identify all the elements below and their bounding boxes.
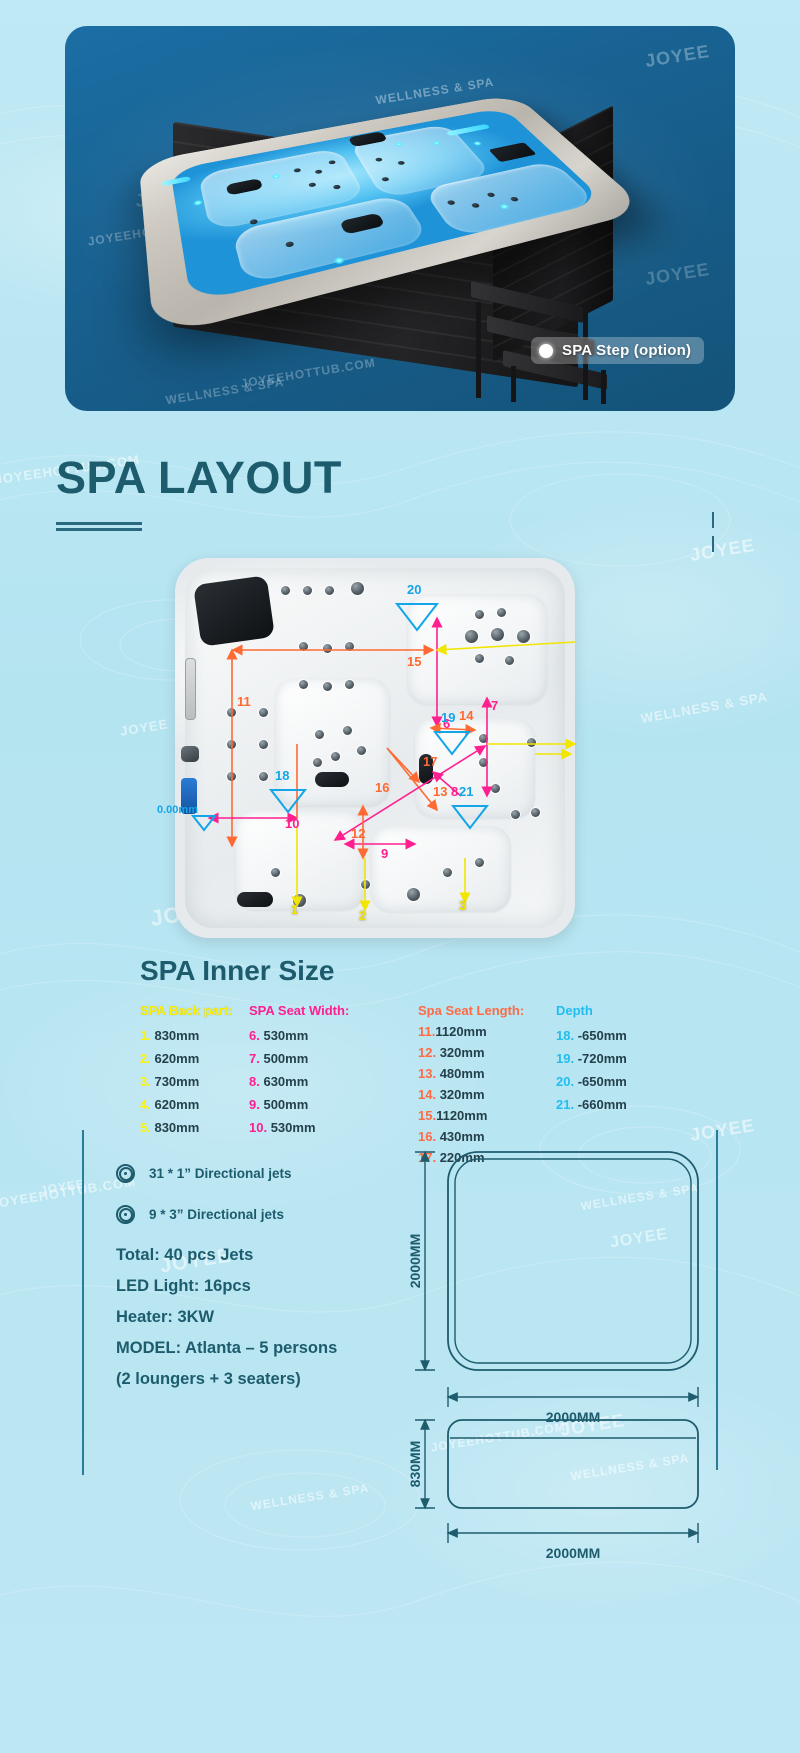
jet-spec-label: 9 * 3” Directional jets: [149, 1207, 284, 1222]
measure-value: 320mm: [440, 1087, 485, 1102]
jet: [517, 630, 530, 643]
measure-index: 5.: [140, 1120, 151, 1135]
watermark-text: WELLNESS & SPA: [250, 1481, 371, 1514]
jet: [227, 740, 236, 749]
jet: [357, 746, 366, 755]
measure-value: 1120mm: [436, 1108, 487, 1123]
jet-spec-row: 9 * 3” Directional jets: [116, 1205, 284, 1224]
measure-row: 19. -720mm: [556, 1047, 627, 1070]
measure-row: 18. -650mm: [556, 1024, 627, 1047]
measure-row: 15.1120mm: [418, 1105, 524, 1126]
measure-row: 21. -660mm: [556, 1093, 627, 1116]
jet: [527, 738, 536, 747]
jet: [227, 772, 236, 781]
jet: [407, 888, 420, 901]
measure-column-seat-width: SPA Seat Width: 6. 530mm 7. 500mm 8. 630…: [249, 1003, 349, 1139]
white-dot-icon: [539, 344, 553, 358]
measure-row: 4. 620mm: [140, 1093, 232, 1116]
measure-value: 630mm: [263, 1074, 308, 1089]
jet: [271, 868, 280, 877]
zero-reference-label: 0.00mm: [157, 804, 198, 816]
jet: [491, 628, 504, 641]
measure-value: 480mm: [440, 1066, 485, 1081]
measure-value: 730mm: [154, 1074, 199, 1089]
spec-item: MODEL: Atlanta – 5 persons: [116, 1333, 337, 1364]
measure-index: 7.: [249, 1051, 260, 1066]
jet: [259, 740, 268, 749]
measure-column-depth: Depth 18. -650mm 19. -720mm 20. -650mm 2…: [556, 1003, 627, 1116]
measure-value: 830mm: [154, 1120, 199, 1135]
measure-index: 10.: [249, 1120, 267, 1135]
jet: [465, 630, 478, 643]
jet-spec-row: 31 * 1” Directional jets: [116, 1164, 292, 1183]
spa-step-callout[interactable]: SPA Step (option): [531, 337, 704, 364]
measure-row: 3. 730mm: [140, 1070, 232, 1093]
jet-icon: [116, 1164, 135, 1183]
column-header: SPA Back part:: [140, 1003, 232, 1018]
measure-row: 5. 830mm: [140, 1116, 232, 1139]
column-header: SPA Seat Width:: [249, 1003, 349, 1018]
watermark-text: JOYEE: [689, 535, 757, 566]
jet: [479, 758, 488, 767]
side-view-width-label: 2000MM: [546, 1545, 600, 1561]
callout-17: 17: [423, 754, 437, 769]
tub-jet: [249, 219, 258, 225]
jet: [313, 758, 322, 767]
filter-lid: [185, 658, 196, 720]
jet: [351, 582, 364, 595]
step-leg: [601, 370, 606, 404]
measure-index: 21.: [556, 1097, 574, 1112]
jet: [299, 680, 308, 689]
callout-15: 15: [407, 654, 421, 669]
jet: [475, 610, 484, 619]
jet: [343, 726, 352, 735]
measure-index: 20.: [556, 1074, 574, 1089]
side-view-dimension-drawing: 830MM 2000MM: [390, 1398, 720, 1578]
jet: [227, 708, 236, 717]
headrest-pillow: [237, 892, 273, 907]
measure-value: -650mm: [578, 1028, 627, 1043]
measure-index: 2.: [140, 1051, 151, 1066]
measure-value: 500mm: [263, 1097, 308, 1112]
headrest-pillow: [315, 772, 349, 787]
callout-8: 8: [451, 784, 458, 799]
watermark-text: JOYEE: [119, 716, 169, 738]
measure-value: 320mm: [440, 1045, 485, 1060]
jet: [475, 858, 484, 867]
top-view-height-label: 2000MM: [407, 1234, 423, 1288]
callout-18: 18: [275, 768, 289, 783]
left-vertical-divider: [82, 1130, 84, 1475]
measure-value: 830mm: [154, 1028, 199, 1043]
measure-index: 9.: [249, 1097, 260, 1112]
page-title: SPA LAYOUT: [56, 452, 342, 504]
spa-layout-diagram: 11 15 6 20 19 18 21 17 13 14 16 12 11 7 …: [175, 558, 575, 938]
callout-12: 12: [351, 826, 365, 841]
jet: [491, 784, 500, 793]
jet: [323, 682, 332, 691]
jet: [345, 680, 354, 689]
led-light: [193, 199, 204, 206]
jet: [475, 654, 484, 663]
jet: [259, 772, 268, 781]
measure-index: 18.: [556, 1028, 574, 1043]
callout-1: 1: [291, 902, 298, 917]
measure-value: -660mm: [578, 1097, 627, 1112]
callout-9: 9: [381, 846, 388, 861]
measure-row: 11.1120mm: [418, 1021, 524, 1042]
spec-item: Total: 40 pcs Jets: [116, 1240, 337, 1271]
measure-value: 620mm: [154, 1051, 199, 1066]
jet-spec-label: 31 * 1” Directional jets: [149, 1166, 292, 1181]
jet: [497, 608, 506, 617]
measure-index: 1.: [140, 1028, 151, 1043]
led-light: [472, 141, 483, 147]
jet-icon: [116, 1205, 135, 1224]
measure-index: 15.: [418, 1108, 436, 1123]
jet: [323, 644, 332, 653]
measure-index: 13.: [418, 1066, 436, 1081]
title-tick-mark: [712, 512, 714, 528]
measure-row: 10. 530mm: [249, 1116, 349, 1139]
callout-3: 3: [459, 898, 466, 913]
measure-row: 14. 320mm: [418, 1084, 524, 1105]
measure-row: 8. 630mm: [249, 1070, 349, 1093]
jet: [259, 708, 268, 717]
inner-size-title: SPA Inner Size: [140, 955, 335, 987]
watermark-text: WELLNESS & SPA: [640, 689, 769, 726]
measure-row: 7. 500mm: [249, 1047, 349, 1070]
measure-index: 4.: [140, 1097, 151, 1112]
measure-index: 12.: [418, 1045, 436, 1060]
jet: [303, 586, 312, 595]
measure-index: 3.: [140, 1074, 151, 1089]
tub-top-view: [175, 558, 575, 938]
spec-item: (2 loungers + 3 seaters): [116, 1364, 337, 1395]
side-view-height-label: 830MM: [407, 1441, 423, 1488]
callout-10: 10: [285, 816, 299, 831]
callout-16: 16: [375, 780, 389, 795]
measure-value: 530mm: [263, 1028, 308, 1043]
measure-index: 19.: [556, 1051, 574, 1066]
spa-step-label: SPA Step (option): [562, 342, 691, 359]
callout-7: 7: [491, 698, 498, 713]
callout-11: 11: [237, 694, 251, 709]
jet: [511, 810, 520, 819]
jet: [331, 752, 340, 761]
measure-index: 6.: [249, 1028, 260, 1043]
jet: [315, 730, 324, 739]
step-leg: [476, 302, 481, 398]
measure-value: 530mm: [271, 1120, 316, 1135]
measure-row: 20. -650mm: [556, 1070, 627, 1093]
seat-area: [371, 826, 511, 912]
jet: [479, 734, 488, 743]
jet: [325, 586, 334, 595]
jet: [345, 642, 354, 651]
headrest-pillow: [193, 575, 275, 647]
callout-20: 20: [407, 582, 421, 597]
title-divider: [56, 522, 142, 531]
jet: [531, 808, 540, 817]
measure-row: 12. 320mm: [418, 1042, 524, 1063]
callout-19: 19: [441, 710, 455, 725]
measure-value: -720mm: [578, 1051, 627, 1066]
callout-14: 14: [459, 708, 473, 723]
spec-item: LED Light: 16pcs: [116, 1271, 337, 1302]
measure-column-back-part: SPA Back part: 1. 830mm 2. 620mm 3. 730m…: [140, 1003, 232, 1139]
measure-row: 2. 620mm: [140, 1047, 232, 1070]
title-tick-mark: [712, 536, 714, 552]
callout-21: 21: [459, 784, 473, 799]
measure-index: 11.: [418, 1024, 435, 1039]
column-header: Depth: [556, 1003, 627, 1018]
column-header: Spa Seat Length:: [418, 1003, 524, 1018]
jet: [281, 586, 290, 595]
measure-value: 620mm: [154, 1097, 199, 1112]
measure-value: -650mm: [578, 1074, 627, 1089]
measure-index: 8.: [249, 1074, 260, 1089]
jet: [505, 656, 514, 665]
callout-13: 13: [433, 784, 447, 799]
measure-value: 1120mm: [435, 1024, 486, 1039]
measure-row: 1. 830mm: [140, 1024, 232, 1047]
jet: [299, 642, 308, 651]
watermark-text: JOYEE: [39, 1177, 86, 1198]
measure-row: 13. 480mm: [418, 1063, 524, 1084]
measure-row: 9. 500mm: [249, 1093, 349, 1116]
measure-value: 500mm: [263, 1051, 308, 1066]
measure-index: 14.: [418, 1087, 436, 1102]
measure-row: 6. 530mm: [249, 1024, 349, 1047]
jet: [361, 880, 370, 889]
spec-list: Total: 40 pcs Jets LED Light: 16pcs Heat…: [116, 1240, 337, 1395]
callout-2: 2: [359, 908, 366, 923]
hero-product-image: WELLNESS & SPA JOYEEHOTTUB.COM JOYEEHOTT…: [65, 26, 735, 411]
spec-item: Heater: 3KW: [116, 1302, 337, 1333]
step-leg: [511, 366, 516, 402]
drain-fitting: [181, 746, 199, 762]
jet: [443, 868, 452, 877]
